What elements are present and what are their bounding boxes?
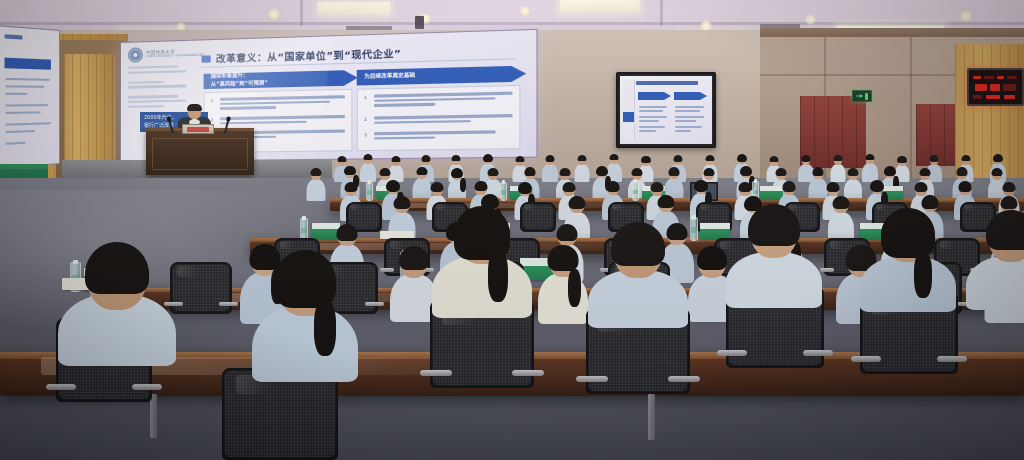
attendee-foreground: [966, 212, 1024, 308]
exit-door-icon: [865, 93, 868, 100]
podium-nameplate: [182, 124, 214, 134]
attendee: [538, 245, 588, 322]
lectern-podium: [146, 128, 254, 175]
bullet-number: 3: [364, 132, 367, 137]
attendee-foreground: [588, 222, 688, 324]
downlight-icon: [805, 14, 816, 25]
aux-screen-header: [5, 58, 51, 70]
attendee: [306, 168, 325, 200]
slide-card-right: 1 2 3: [357, 85, 521, 151]
auxiliary-projection-screen: [0, 25, 60, 169]
attendee-foreground: [252, 250, 358, 378]
downlight-icon: [268, 8, 280, 20]
bullet-number: 2: [364, 117, 367, 122]
running-man-exit-icon: [856, 94, 863, 99]
attendee-foreground: [860, 210, 956, 308]
university-name-en: CHINA UNIVERSITY OF GEOSCIENCES: [146, 54, 204, 60]
downlight-icon: [960, 10, 972, 22]
attendee-foreground: [726, 206, 822, 304]
chevron-banner-right: 为后续改革奠定基础: [357, 66, 526, 86]
bullet-square-icon: [202, 55, 211, 62]
led-scroll-board: [967, 68, 1024, 106]
ceiling-light-panel: [318, 2, 390, 14]
conference-hall-photo: 中国地质大学 CHINA UNIVERSITY OF GEOSCIENCES 改…: [0, 0, 1024, 460]
projector-mount: [415, 16, 424, 29]
bullet-number: 1: [211, 98, 214, 103]
emergency-exit-sign: [852, 90, 872, 102]
slide-sidebar-outline: [128, 65, 186, 110]
attendee-foreground: [58, 242, 176, 362]
monitor-sidebar-highlight: [623, 112, 634, 122]
ceiling-light-panel: [560, 0, 640, 11]
university-emblem-icon: [128, 47, 143, 62]
chevron-banner-left: 国际形象提升： 从“高风险”到“可预测”: [204, 70, 358, 89]
slide-university-logo: 中国地质大学 CHINA UNIVERSITY OF GEOSCIENCES: [128, 45, 204, 62]
desk-leg: [648, 394, 655, 440]
chevron-right-label: 为后续改革奠定基础: [364, 70, 526, 81]
attendee-foreground: [432, 206, 532, 316]
bullet-number: 1: [364, 95, 367, 100]
wall-mounted-display: [616, 72, 716, 148]
downlight-icon: [520, 6, 530, 16]
